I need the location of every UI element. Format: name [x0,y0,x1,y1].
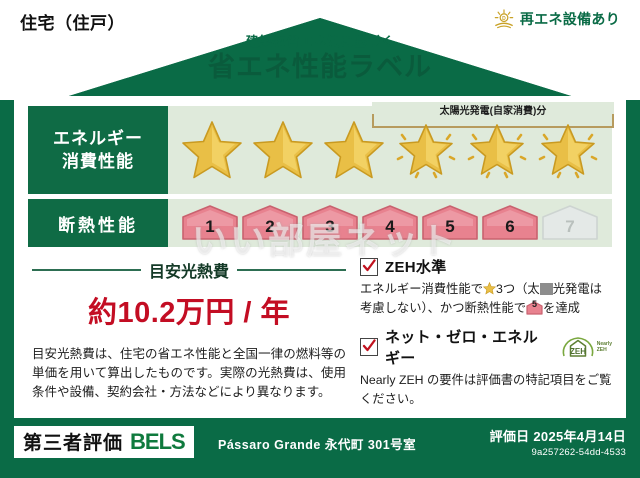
evaluation-date: 評価日 2025年4月14日 [490,426,626,445]
insulation-level-house-inactive: 7 [540,204,600,242]
insulation-level-house: 6 [480,204,540,242]
zeh-standard-body: エネルギー消費性能で3つ（太光発電は考慮しない）、かつ断熱性能で5を達成 [360,280,612,318]
insulation-level-house: 1 [180,204,240,242]
insulation-level-number: 3 [325,218,334,242]
insulation-performance-row: 断熱性能 1 2 3 [28,199,612,247]
energy-label-line1: エネルギー [53,127,143,150]
svg-text:ZEH: ZEH [570,347,586,356]
energy-star-rating [168,106,612,194]
bels-en-label: BELS [130,429,185,455]
check-icon [360,338,378,356]
zeh-house-logo-icon: ZEH NearlyZEH [561,335,612,359]
bels-certification-badge: 第三者評価 BELS [14,426,194,458]
utility-cost-note: 目安光熱費は、住宅の省エネ性能と全国一律の燃料等の単価を用いて算出したものです。… [32,345,346,402]
evaluation-id: 9a257262-54dd-4533 [490,447,626,458]
heading-rule-right [237,269,346,271]
net-zero-energy-title: ネット・ゼロ・エネルギー [385,326,551,368]
energy-label-line2: 消費性能 [62,150,134,173]
check-icon [360,258,378,276]
property-address: Pássaro Grande 永代町 301号室 [218,434,416,453]
insulation-badge-5-icon: 5 [526,301,543,315]
insulation-level-number: 4 [385,218,394,242]
zeh-body-part1: エネルギー消費性能で [360,282,483,296]
energy-performance-row-label: エネルギー 消費性能 [28,106,168,194]
insulation-level-house: 3 [300,204,360,242]
insulation-badge-5-number: 5 [526,301,543,315]
house-type-tag: 住宅（住戸） [10,6,135,38]
zeh-standard-item: ZEH水準 [360,256,612,277]
star-icon-pv [465,119,529,181]
insulation-level-number: 6 [505,218,514,242]
insulation-level-number: 7 [565,218,574,242]
insulation-level-house: 4 [360,204,420,242]
bels-jp-label: 第三者評価 [23,428,123,455]
star-icon [251,119,315,181]
evaluation-date-block: 評価日 2025年4月14日 9a257262-54dd-4533 [490,426,626,458]
label-title-block: 建築物省エネ法に基づく 省エネ性能ラベル [0,34,640,83]
utility-cost-heading: 目安光熱費 [32,258,346,282]
insulation-row-body: 1 2 3 4 5 [168,199,612,247]
renewable-badge-label: 再エネ設備あり [520,9,620,29]
zeh-column: ZEH水準 エネルギー消費性能で3つ（太光発電は考慮しない）、かつ断熱性能で5を… [360,256,612,409]
label-lower-section: 目安光熱費 約10.2万円 / 年 目安光熱費は、住宅の省エネ性能と全国一律の燃… [28,256,612,408]
label-footer: 第三者評価 BELS Pássaro Grande 永代町 301号室 評価日 … [0,418,640,478]
energy-performance-label: 住宅（住戸） D 再エネ設備あり 建築物省エネ法に基づく 省エネ性能ラベル [0,0,640,478]
net-zero-energy-body: Nearly ZEH の要件は評価書の特記項目をご覧ください。 [360,371,612,409]
insulation-level-number: 2 [265,218,274,242]
star-icon-pv [394,119,458,181]
insulation-row-label: 断熱性能 [28,199,168,247]
insulation-level-scale: 1 2 3 4 5 [168,199,612,247]
star-icon-inline [483,282,496,295]
zeh-body-part2: 3つ（太 [496,282,540,296]
insulation-level-number: 1 [205,218,214,242]
zeh-logo-subtext: NearlyZEH [597,341,612,353]
renewable-equipment-badge: D 再エネ設備あり [487,6,630,32]
label-body-card: エネルギー 消費性能 太陽光発電(自家消費)分 [14,96,626,418]
energy-performance-row: エネルギー 消費性能 太陽光発電(自家消費)分 [28,106,612,194]
heading-rule-left [32,269,141,271]
sun-icon: D [493,9,515,29]
star-icon-pv [536,119,600,181]
label-title: 省エネ性能ラベル [0,51,640,83]
utility-cost-column: 目安光熱費 約10.2万円 / 年 目安光熱費は、住宅の省エネ性能と全国一律の燃… [32,256,346,402]
svg-text:D: D [502,16,506,22]
insulation-level-number: 5 [445,218,454,242]
net-zero-energy-item: ネット・ゼロ・エネルギー ZEH NearlyZEH [360,326,612,368]
utility-cost-value: 約10.2万円 / 年 [32,289,346,331]
zeh-body-part4: を達成 [543,301,580,315]
masked-character-icon [540,283,553,295]
star-icon [180,119,244,181]
energy-performance-row-body: 太陽光発電(自家消費)分 [168,106,612,194]
star-icon [322,119,386,181]
insulation-level-house: 2 [240,204,300,242]
insulation-level-house: 5 [420,204,480,242]
utility-cost-heading-text: 目安光熱費 [149,258,229,282]
zeh-standard-title: ZEH水準 [385,256,447,277]
